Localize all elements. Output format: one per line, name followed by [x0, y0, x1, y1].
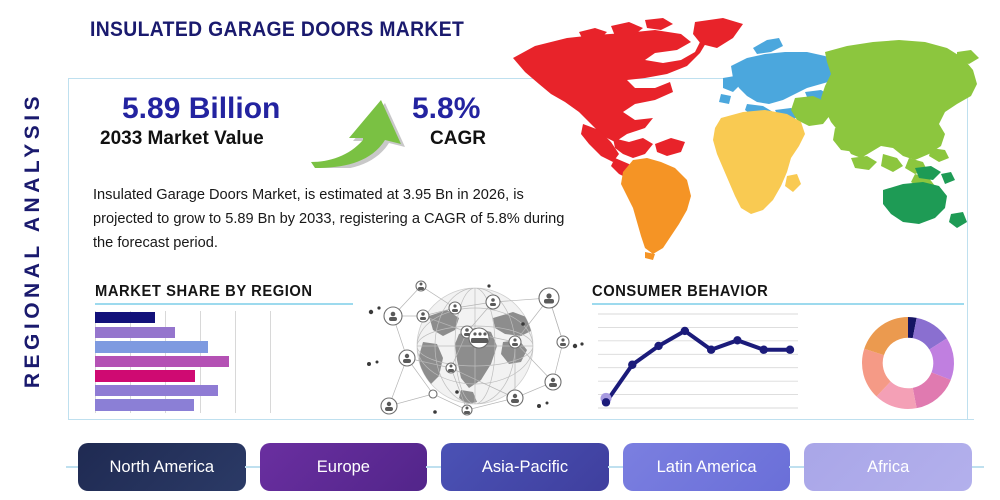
region-pill-latin-america[interactable]: Latin America — [623, 443, 791, 491]
market-value-caption: 2033 Market Value — [100, 128, 264, 150]
key-stats-row: 5.89 Billion 2033 Market Value 5.8% CAGR — [100, 92, 520, 172]
consumer-behavior-line-chart — [598, 308, 798, 414]
region-pill-connector — [245, 466, 261, 468]
region-pill-head-connector — [66, 466, 78, 468]
line-chart-point — [707, 346, 715, 354]
bar-chart-bar — [95, 370, 195, 381]
line-chart-point — [786, 346, 794, 354]
region-pill-row: North AmericaEuropeAsia-PacificLatin Ame… — [78, 443, 972, 491]
regional-analysis-side-label: REGIONAL ANALYSIS — [10, 55, 56, 425]
line-chart-point — [602, 398, 610, 406]
market-description: Insulated Garage Doors Market, is estima… — [93, 183, 583, 255]
line-chart-point — [654, 342, 662, 350]
donut-segment — [913, 372, 951, 408]
side-label-text: REGIONAL ANALYSIS — [21, 92, 45, 388]
bar-chart-bar — [95, 356, 229, 367]
bar-chart-bar — [95, 327, 175, 338]
region-pill-connector — [426, 466, 442, 468]
line-chart-point — [760, 346, 768, 354]
region-pill-europe[interactable]: Europe — [260, 443, 428, 491]
region-pill-label: Latin America — [657, 458, 757, 477]
line-chart-point — [628, 361, 636, 369]
region-pill-connector — [608, 466, 624, 468]
region-pill-connector — [789, 466, 805, 468]
line-chart-point — [733, 336, 741, 344]
region-pill-asia-pacific[interactable]: Asia-Pacific — [441, 443, 609, 491]
market-value-number: 5.89 Billion — [122, 92, 280, 126]
bar-chart-bar — [95, 385, 218, 396]
consumer-behavior-donut-chart — [853, 308, 963, 418]
region-pill-label: North America — [110, 458, 215, 477]
growth-arrow-up-icon — [305, 88, 410, 168]
cagr-number: 5.8% — [412, 92, 480, 126]
consumer-behavior-heading-rule — [592, 303, 964, 305]
infographic-root: REGIONAL ANALYSIS INSULATED GARAGE DOORS… — [0, 0, 1000, 500]
region-pill-north-america[interactable]: North America — [78, 443, 246, 491]
cagr-caption: CAGR — [430, 128, 486, 150]
bar-chart-bar — [95, 312, 155, 323]
region-pill-africa[interactable]: Africa — [804, 443, 972, 491]
market-share-heading-rule — [95, 303, 353, 305]
line-chart-point — [681, 327, 689, 335]
region-pill-tail-connector — [972, 466, 984, 468]
market-share-bar-chart — [95, 311, 270, 413]
market-share-heading: MARKET SHARE BY REGION — [95, 283, 313, 301]
consumer-behavior-heading: CONSUMER BEHAVIOR — [592, 283, 768, 301]
bar-chart-bar — [95, 399, 194, 410]
region-pill-label: Europe — [317, 458, 370, 477]
page-title: INSULATED GARAGE DOORS MARKET — [90, 18, 464, 42]
global-network-globe-icon — [363, 272, 588, 420]
donut-segment — [864, 317, 908, 355]
region-pill-label: Africa — [867, 458, 909, 477]
region-pill-label: Asia-Pacific — [482, 458, 568, 477]
bar-chart-bar — [95, 341, 208, 352]
